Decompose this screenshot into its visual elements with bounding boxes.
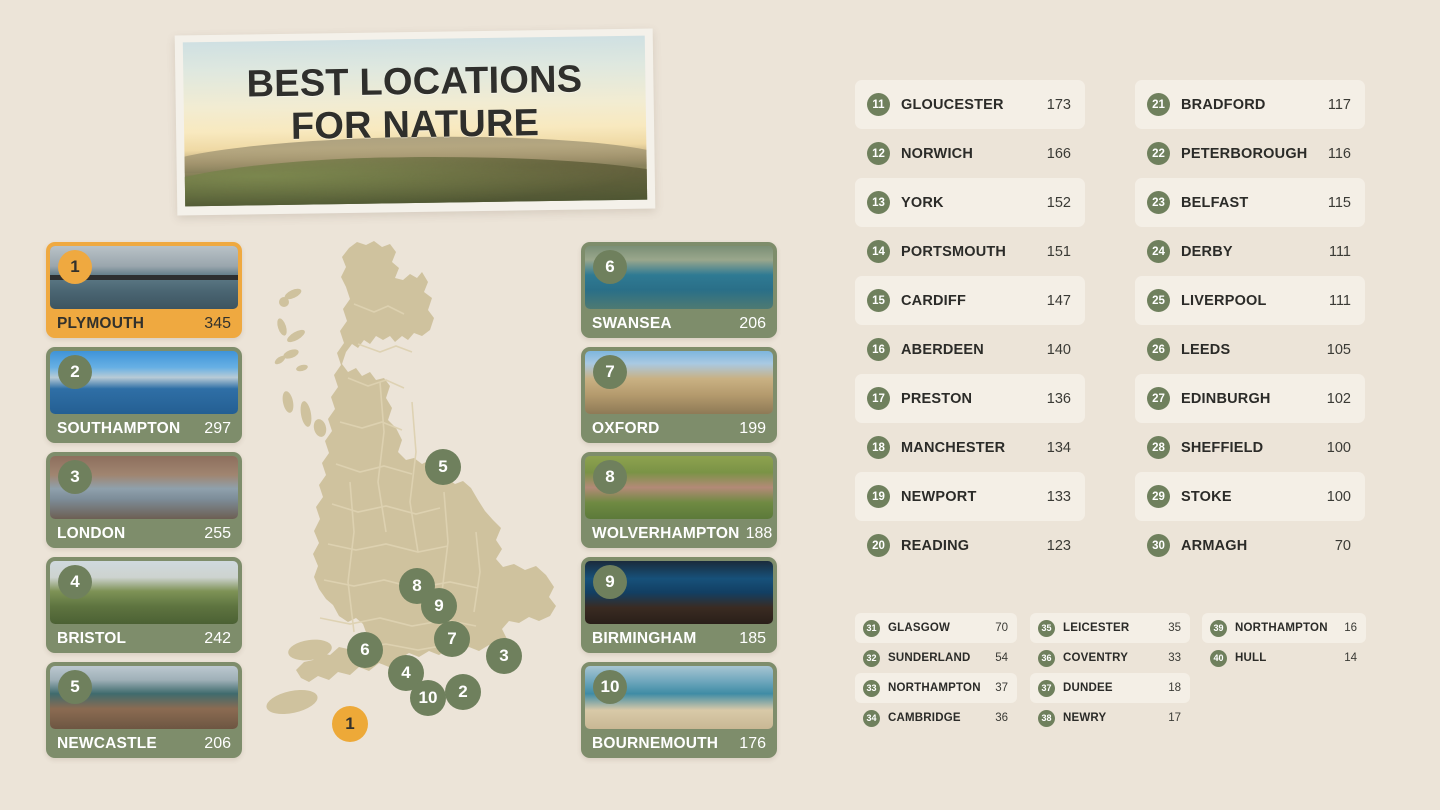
city-score: 199 (739, 420, 766, 438)
map-marker[interactable]: 7 (434, 621, 470, 657)
mini-rank-badge: 39 (1210, 620, 1227, 637)
city-card[interactable]: 3LONDON255 (46, 452, 242, 548)
city-score: 206 (739, 315, 766, 333)
mini-rank-row[interactable]: 37DUNDEE18 (1030, 673, 1190, 703)
rank-city-score: 111 (1329, 293, 1351, 309)
rank-city-score: 115 (1328, 195, 1351, 211)
rank-row[interactable]: 28SHEFFIELD100 (1135, 423, 1365, 472)
city-card-footer: BRISTOL242 (46, 624, 242, 653)
rank-badge: 11 (867, 93, 890, 116)
mini-rank-badge: 31 (863, 620, 880, 637)
map-marker[interactable]: 1 (332, 706, 368, 742)
rank-row[interactable]: 20READING123 (855, 521, 1085, 570)
city-name: BRISTOL (57, 630, 198, 648)
city-name: SOUTHAMPTON (57, 420, 198, 438)
mini-rank-badge: 35 (1038, 620, 1055, 637)
city-rank-badge: 1 (58, 250, 92, 284)
mini-city-score: 18 (1168, 682, 1181, 694)
city-rank-badge: 7 (593, 355, 627, 389)
rank-row[interactable]: 15CARDIFF147 (855, 276, 1085, 325)
city-card-footer: WOLVERHAMPTON188 (581, 519, 777, 548)
rank-row[interactable]: 14PORTSMOUTH151 (855, 227, 1085, 276)
title-line-2: FOR NATURE (184, 100, 647, 149)
mini-city-score: 37 (995, 682, 1008, 694)
rank-city-name: YORK (901, 195, 1041, 211)
rank-city-score: 123 (1047, 538, 1071, 554)
rank-badge: 30 (1147, 534, 1170, 557)
mini-rank-badge: 34 (863, 710, 880, 727)
rank-city-name: CARDIFF (901, 293, 1041, 309)
rank-row[interactable]: 16ABERDEEN140 (855, 325, 1085, 374)
map-marker[interactable]: 9 (421, 588, 457, 624)
rank-city-name: PRESTON (901, 391, 1041, 407)
rank-row[interactable]: 12NORWICH166 (855, 129, 1085, 178)
mini-rank-row[interactable]: 35LEICESTER35 (1030, 613, 1190, 643)
rank-badge: 29 (1147, 485, 1170, 508)
city-card[interactable]: 5NEWCASTLE206 (46, 662, 242, 758)
city-card[interactable]: 6SWANSEA206 (581, 242, 777, 338)
rank-city-name: SHEFFIELD (1181, 440, 1321, 456)
rank-city-name: READING (901, 538, 1041, 554)
rank-row[interactable]: 21BRADFORD117 (1135, 80, 1365, 129)
rank-row[interactable]: 23BELFAST115 (1135, 178, 1365, 227)
infographic-root: BEST LOCATIONS FOR NATURE 1PLYMOUTH3452S… (0, 0, 1440, 810)
city-name: OXFORD (592, 420, 733, 438)
city-score: 185 (739, 630, 766, 648)
city-card[interactable]: 4BRISTOL242 (46, 557, 242, 653)
mini-city-name: LEICESTER (1063, 622, 1163, 634)
rank-city-name: EDINBURGH (1181, 391, 1321, 407)
city-photo: 1 (50, 246, 238, 309)
mini-city-name: GLASGOW (888, 622, 990, 634)
city-score: 345 (204, 315, 231, 333)
mini-rank-badge: 32 (863, 650, 880, 667)
mini-rank-badge: 38 (1038, 710, 1055, 727)
city-name: BOURNEMOUTH (592, 735, 733, 753)
city-photo: 3 (50, 456, 238, 519)
rank-badge: 13 (867, 191, 890, 214)
city-photo: 4 (50, 561, 238, 624)
city-card[interactable]: 8WOLVERHAMPTON188 (581, 452, 777, 548)
mini-city-score: 14 (1344, 652, 1357, 664)
rank-city-score: 140 (1047, 342, 1071, 358)
city-card[interactable]: 1PLYMOUTH345 (46, 242, 242, 338)
mini-rank-row[interactable]: 40HULL14 (1202, 643, 1366, 673)
rank-row[interactable]: 26LEEDS105 (1135, 325, 1365, 374)
city-card-footer: NEWCASTLE206 (46, 729, 242, 758)
city-name: PLYMOUTH (57, 315, 198, 333)
rank-badge: 28 (1147, 436, 1170, 459)
rank-city-name: LEEDS (1181, 342, 1321, 358)
mini-city-score: 70 (995, 622, 1008, 634)
mini-city-score: 17 (1168, 712, 1181, 724)
rank-row[interactable]: 22PETERBOROUGH116 (1135, 129, 1365, 178)
city-rank-badge: 8 (593, 460, 627, 494)
rank-city-score: 116 (1328, 146, 1351, 162)
mini-list-column-2: 35LEICESTER3536COVENTRY3337DUNDEE1838NEW… (1030, 613, 1190, 733)
mini-city-score: 33 (1168, 652, 1181, 664)
rank-city-score: 151 (1047, 244, 1071, 260)
mini-rank-row[interactable]: 31GLASGOW70 (855, 613, 1017, 643)
mini-rank-row[interactable]: 36COVENTRY33 (1030, 643, 1190, 673)
rank-city-score: 105 (1327, 342, 1351, 358)
city-score: 176 (739, 735, 766, 753)
rank-badge: 17 (867, 387, 890, 410)
rank-city-name: STOKE (1181, 489, 1321, 505)
city-score: 255 (204, 525, 231, 543)
rank-badge: 27 (1147, 387, 1170, 410)
map-marker[interactable]: 6 (347, 632, 383, 668)
map-marker[interactable]: 5 (425, 449, 461, 485)
city-name: WOLVERHAMPTON (592, 525, 740, 543)
mini-city-name: DUNDEE (1063, 682, 1163, 694)
city-score: 206 (204, 735, 231, 753)
rank-city-score: 152 (1047, 195, 1071, 211)
mini-city-name: SUNDERLAND (888, 652, 990, 664)
city-card-footer: PLYMOUTH345 (46, 309, 242, 338)
city-photo: 2 (50, 351, 238, 414)
rank-badge: 20 (867, 534, 890, 557)
mini-rank-badge: 40 (1210, 650, 1227, 667)
rank-city-name: DERBY (1181, 244, 1323, 260)
rank-row[interactable]: 29STOKE100 (1135, 472, 1365, 521)
city-photo: 7 (585, 351, 773, 414)
mini-rank-row[interactable]: 39NORTHAMPTON16 (1202, 613, 1366, 643)
mini-city-score: 36 (995, 712, 1008, 724)
mini-city-name: NORTHAMPTON (1235, 622, 1339, 634)
rank-city-name: MANCHESTER (901, 440, 1041, 456)
city-score: 297 (204, 420, 231, 438)
mini-rank-row[interactable]: 34CAMBRIDGE36 (855, 703, 1017, 733)
city-card-footer: BIRMINGHAM185 (581, 624, 777, 653)
rank-city-name: ABERDEEN (901, 342, 1041, 358)
city-rank-badge: 6 (593, 250, 627, 284)
page-title: BEST LOCATIONS FOR NATURE (183, 58, 646, 150)
city-rank-badge: 9 (593, 565, 627, 599)
rank-city-name: BELFAST (1181, 195, 1322, 211)
city-photo: 9 (585, 561, 773, 624)
rank-city-name: LIVERPOOL (1181, 293, 1323, 309)
mini-city-name: NORTHAMPTON (888, 682, 990, 694)
map-marker[interactable]: 3 (486, 638, 522, 674)
rank-badge: 24 (1147, 240, 1170, 263)
mini-rank-badge: 37 (1038, 680, 1055, 697)
rank-row[interactable]: 24DERBY111 (1135, 227, 1365, 276)
rank-city-score: 111 (1329, 244, 1351, 260)
banner-landscape-photo: BEST LOCATIONS FOR NATURE (183, 36, 647, 207)
city-photo: 5 (50, 666, 238, 729)
rank-row[interactable]: 25LIVERPOOL111 (1135, 276, 1365, 325)
city-rank-badge: 4 (58, 565, 92, 599)
rank-city-score: 100 (1327, 440, 1351, 456)
city-card-footer: SWANSEA206 (581, 309, 777, 338)
rank-badge: 16 (867, 338, 890, 361)
mini-city-name: COVENTRY (1063, 652, 1163, 664)
city-photo: 8 (585, 456, 773, 519)
mini-rank-row[interactable]: 32SUNDERLAND54 (855, 643, 1017, 673)
rank-badge: 18 (867, 436, 890, 459)
mini-rank-row[interactable]: 33NORTHAMPTON37 (855, 673, 1017, 703)
mini-list-column-1: 31GLASGOW7032SUNDERLAND5433NORTHAMPTON37… (855, 613, 1017, 733)
rank-badge: 22 (1147, 142, 1170, 165)
mini-city-name: NEWRY (1063, 712, 1163, 724)
rank-city-score: 133 (1047, 489, 1071, 505)
rank-row[interactable]: 30ARMAGH70 (1135, 521, 1365, 570)
city-name: BIRMINGHAM (592, 630, 733, 648)
city-photo: 10 (585, 666, 773, 729)
mini-rank-badge: 36 (1038, 650, 1055, 667)
city-card[interactable]: 9BIRMINGHAM185 (581, 557, 777, 653)
rank-city-score: 102 (1327, 391, 1351, 407)
rank-city-name: NORWICH (901, 146, 1041, 162)
rank-list-column-1: 11GLOUCESTER17312NORWICH16613YORK15214PO… (855, 80, 1085, 570)
title-line-1: BEST LOCATIONS (246, 59, 582, 106)
rank-city-score: 173 (1047, 97, 1071, 113)
rank-city-score: 70 (1335, 538, 1351, 554)
rank-city-score: 134 (1047, 440, 1071, 456)
city-rank-badge: 2 (58, 355, 92, 389)
rank-badge: 19 (867, 485, 890, 508)
rank-row[interactable]: 27EDINBURGH102 (1135, 374, 1365, 423)
rank-city-score: 117 (1328, 97, 1351, 113)
rank-list-column-2: 21BRADFORD11722PETERBOROUGH11623BELFAST1… (1135, 80, 1365, 570)
mini-city-name: HULL (1235, 652, 1339, 664)
rank-row[interactable]: 11GLOUCESTER173 (855, 80, 1085, 129)
city-rank-badge: 3 (58, 460, 92, 494)
mini-rank-row[interactable]: 38NEWRY17 (1030, 703, 1190, 733)
city-rank-badge: 5 (58, 670, 92, 704)
map-marker[interactable]: 2 (445, 674, 481, 710)
city-rank-badge: 10 (593, 670, 627, 704)
mini-list-column-3: 39NORTHAMPTON1640HULL14 (1202, 613, 1366, 673)
city-photo: 6 (585, 246, 773, 309)
rank-badge: 15 (867, 289, 890, 312)
city-name: LONDON (57, 525, 198, 543)
city-card[interactable]: 2SOUTHAMPTON297 (46, 347, 242, 443)
rank-row[interactable]: 19NEWPORT133 (855, 472, 1085, 521)
rank-city-score: 166 (1047, 146, 1071, 162)
mini-rank-badge: 33 (863, 680, 880, 697)
city-card-footer: SOUTHAMPTON297 (46, 414, 242, 443)
city-card[interactable]: 7OXFORD199 (581, 347, 777, 443)
rank-row[interactable]: 18MANCHESTER134 (855, 423, 1085, 472)
city-name: NEWCASTLE (57, 735, 198, 753)
rank-badge: 14 (867, 240, 890, 263)
city-name: SWANSEA (592, 315, 733, 333)
rank-city-score: 136 (1047, 391, 1071, 407)
rank-city-score: 100 (1327, 489, 1351, 505)
rank-city-name: BRADFORD (1181, 97, 1322, 113)
rank-city-name: PETERBOROUGH (1181, 146, 1322, 162)
uk-map[interactable]: 58973641021 (262, 232, 574, 760)
rank-city-name: NEWPORT (901, 489, 1041, 505)
mini-city-score: 35 (1168, 622, 1181, 634)
city-card[interactable]: 10BOURNEMOUTH176 (581, 662, 777, 758)
city-card-footer: OXFORD199 (581, 414, 777, 443)
rank-badge: 26 (1147, 338, 1170, 361)
city-card-footer: LONDON255 (46, 519, 242, 548)
city-score: 242 (204, 630, 231, 648)
rank-badge: 12 (867, 142, 890, 165)
map-marker[interactable]: 10 (410, 680, 446, 716)
rank-row[interactable]: 17PRESTON136 (855, 374, 1085, 423)
mini-city-score: 54 (995, 652, 1008, 664)
mini-city-name: CAMBRIDGE (888, 712, 990, 724)
rank-badge: 25 (1147, 289, 1170, 312)
title-banner: BEST LOCATIONS FOR NATURE (175, 28, 656, 215)
rank-city-name: GLOUCESTER (901, 97, 1041, 113)
rank-row[interactable]: 13YORK152 (855, 178, 1085, 227)
rank-city-name: ARMAGH (1181, 538, 1329, 554)
rank-badge: 23 (1147, 191, 1170, 214)
city-score: 188 (746, 525, 773, 543)
rank-city-score: 147 (1047, 293, 1071, 309)
city-card-footer: BOURNEMOUTH176 (581, 729, 777, 758)
mini-city-score: 16 (1344, 622, 1357, 634)
rank-city-name: PORTSMOUTH (901, 244, 1041, 260)
rank-badge: 21 (1147, 93, 1170, 116)
